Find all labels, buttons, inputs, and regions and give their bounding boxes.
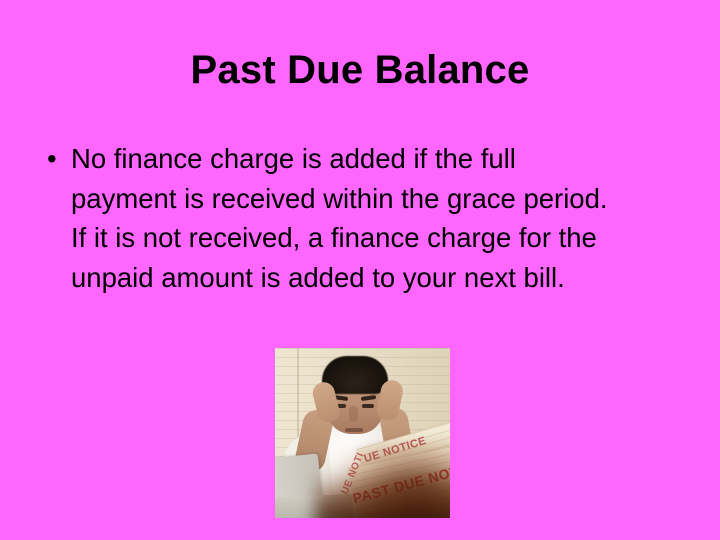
photo-person-mouth bbox=[345, 428, 363, 432]
photo-bottom-shadow bbox=[315, 472, 450, 518]
bullet-dot-icon: • bbox=[47, 139, 65, 179]
photo-person-nose bbox=[349, 406, 358, 422]
bullet-list: • No finance charge is added if the full… bbox=[44, 139, 620, 297]
bullet-text: No finance charge is added if the full p… bbox=[71, 143, 608, 293]
slide-canvas: Past Due Balance • No finance charge is … bbox=[0, 0, 720, 540]
list-item: • No finance charge is added if the full… bbox=[44, 139, 620, 297]
page-title: Past Due Balance bbox=[0, 46, 720, 94]
past-due-photo: UE NOTI UE NOTICE PAST DUE NOTI bbox=[275, 348, 450, 518]
photo-person-eye-right bbox=[362, 404, 374, 408]
